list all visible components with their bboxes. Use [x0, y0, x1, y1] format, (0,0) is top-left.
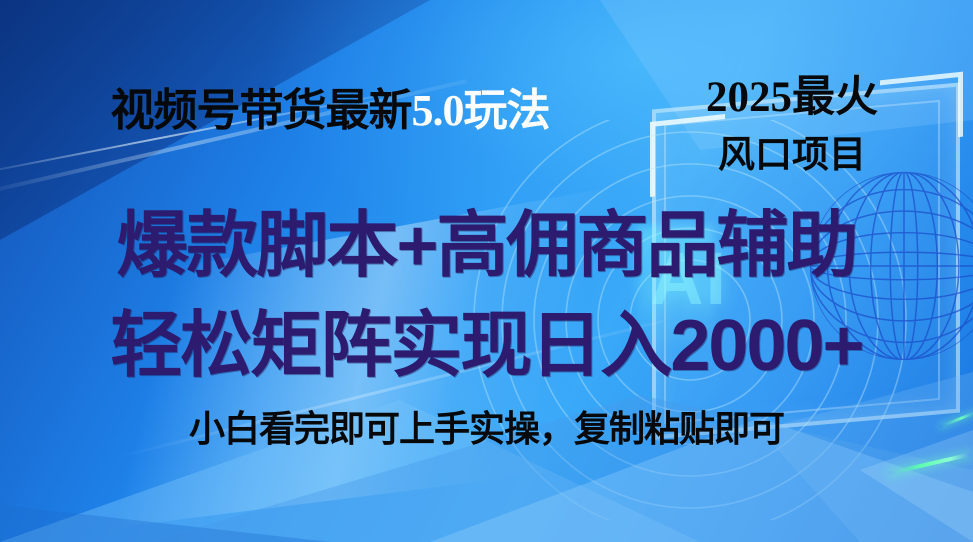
headline-line-1: 视频号带货最新5.0玩法: [0, 74, 660, 138]
headline-line-1-black: 视频号带货最新: [111, 86, 412, 135]
badge-line-top: 2025最火: [672, 62, 912, 124]
text-content-layer: 视频号带货最新5.0玩法 2025最火 风口项目 爆款脚本+高佣商品辅助 轻松矩…: [0, 0, 973, 542]
poster-canvas: AI 视频号带货最新5.0玩法 2025最火 风口项目 爆款脚本+高佣商品辅助 …: [0, 0, 973, 542]
headline-line-1-white: 5.0玩法: [412, 86, 550, 135]
headline-line-3: 轻松矩阵实现日入2000+: [0, 286, 973, 391]
headline-line-2: 爆款脚本+高佣商品辅助: [0, 186, 973, 291]
badge-line-bottom: 风口项目: [672, 124, 912, 178]
headline-line-4: 小白看完即可上手实操，复制粘贴即可: [0, 400, 973, 452]
